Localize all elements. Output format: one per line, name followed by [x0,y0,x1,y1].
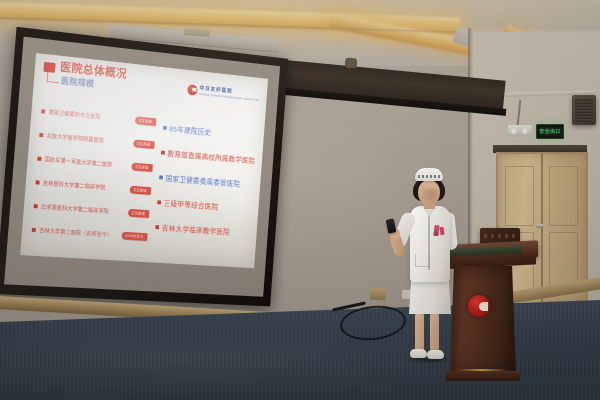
list-item: 吉林大学临床教学医院 [155,222,251,239]
list-item-label: 国家卫健委委属委管医院 [165,173,240,189]
list-item-label: 隶属卫健委的市立医院 [48,108,101,121]
list-item-tag: 卫生部级 [135,117,156,126]
bullet-icon [162,126,166,130]
bullet-icon [155,225,159,229]
right-shoe [427,350,444,359]
list-item: 国家卫健委委属委管医院 [158,172,253,190]
list-item: 国防军第一军医大学第二医院 卫生部级 [37,155,152,172]
list-item: 吉林医科大学第二临床学院 卫生部级 [35,178,150,195]
list-item-tag: 卫生部级 [130,186,151,195]
presenter-remote[interactable] [386,218,397,233]
bullet-icon [161,151,165,155]
face-shading [419,188,439,202]
bullet-icon [159,175,163,179]
list-item-tag: 卫生部级 [128,209,149,218]
list-item-label: 北医大学医学院附属医院 [46,132,104,145]
bullet-icon [39,133,43,137]
exit-sign: 安全出口 [536,124,564,139]
list-item-label: 吉林医科大学第二临床学院 [43,179,106,192]
list-item-label: 教育部直属高校附属教学医院 [167,148,255,166]
slide-left-column: 隶属卫健委的市立医院 卫生部级 北医大学医学院附属医院 卫生部级 国防军第一军医… [31,97,157,248]
list-item-label: 吉林大学第二医院（名称至今） [39,226,112,238]
title-elbow-connector [46,72,59,83]
valance-mount-knob [345,57,358,68]
bullet-icon [35,180,39,184]
door-panel [505,166,534,226]
list-item-tag: 卫生部级 [133,140,154,149]
left-leg [415,312,424,352]
wall-speaker [572,95,596,125]
slide-logo: 中日友好医院 CHINA-JAPAN FRIENDSHIP HOSPITAL [187,83,260,102]
exit-sign-label: 安全出口 [539,128,561,135]
bullet-icon [37,157,41,161]
wall-outlet-plate [370,288,387,301]
list-item-tag: 卫生部级 [132,163,153,172]
door-handle[interactable] [536,224,544,228]
nurse-presenter [393,168,467,368]
list-item: 白求恩医科大学第二临床学院 卫生部级 [33,202,149,218]
uniform-pocket [415,254,430,267]
list-item-label: 白求恩医科大学第二临床学院 [41,203,109,216]
list-item: 北医大学医学院附属医院 卫生部级 [39,131,154,149]
slide-right-column: 85年建院历史 教育部直属高校附属教学医院 国家卫健委委属委管医院 三级甲等综合… [152,109,259,254]
list-item-label: 国防军第一军医大学第二医院 [44,155,112,168]
bullet-icon [32,228,36,232]
presentation-room-photo: 安全出口 医院总体概况 医院规模 中日友好医院 CHINA-JAPAN FRIE… [0,0,600,400]
projected-slide: 医院总体概况 医院规模 中日友好医院 CHINA-JAPAN FRIENDSHI… [20,53,268,268]
right-leg [430,312,439,352]
list-item-label: 三级甲等综合医院 [163,197,218,211]
list-item-tag: 2000年至今 [122,232,147,241]
bullet-icon [34,204,38,208]
door-center-split [541,154,543,302]
bullet-icon [41,109,45,113]
list-item: 隶属卫健委的市立医院 卫生部级 [41,107,156,126]
nurse-cap [415,168,443,181]
slide-body: 隶属卫健委的市立医院 卫生部级 北医大学医学院附属医院 卫生部级 国防军第一军医… [31,97,258,254]
list-item-label: 吉林大学临床教学医院 [161,222,230,237]
projection-screen: 医院总体概况 医院规模 中日友好医院 CHINA-JAPAN FRIENDSHI… [0,27,288,307]
list-item: 85年建院历史 [162,122,257,141]
list-item-label: 85年建院历史 [169,123,212,137]
slide-subtitle: 医院规模 [61,75,95,90]
left-shoe [410,349,427,358]
title-square-icon [43,62,55,73]
hospital-logo-icon [187,84,198,95]
emergency-light [508,125,532,137]
podium-base [446,371,520,381]
list-item: 吉林大学第二医院（名称至今） 2000年至今 [32,226,148,241]
list-item: 三级甲等综合医院 [157,197,252,214]
door-panel [549,166,578,226]
podium-hospital-logo-icon [468,295,490,317]
nurse-uniform-top [410,206,450,282]
bullet-icon [157,200,161,204]
list-item: 教育部直属高校附属教学医院 [160,147,255,166]
